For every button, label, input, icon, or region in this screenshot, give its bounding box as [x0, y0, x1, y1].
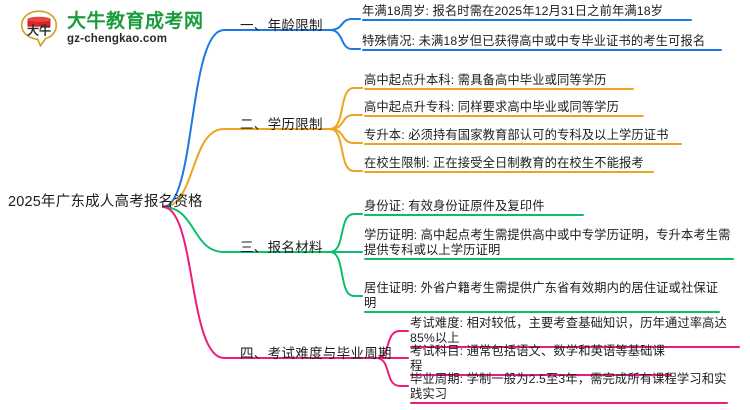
branch-1-leaf-connector-1 — [330, 19, 360, 30]
branch-4-leaf-connector-3 — [376, 358, 408, 386]
leaf-text: 专升本: 必须持有国家教育部认可的专科及以上学历证书 — [364, 128, 682, 143]
logo-title: 大牛教育成考网 — [67, 12, 204, 31]
leaf-node[interactable]: 高中起点升专科: 同样要求高中毕业或同等学历 — [364, 100, 644, 117]
daniu-logo-icon: 大牛 — [18, 8, 60, 50]
branch-2-leaf-connector-3 — [330, 129, 362, 143]
branch-label-1[interactable]: 一、年龄限制 — [240, 14, 323, 34]
leaf-node[interactable]: 身份证: 有效身份证原件及复印件 — [364, 199, 584, 216]
svg-text:大牛: 大牛 — [27, 22, 51, 37]
branch-1-leaf-connector-2 — [330, 30, 360, 49]
leaf-text: 考试科目: 通常包括语文、数学和英语等基础课程 — [410, 344, 672, 374]
site-logo: 大牛 大牛教育成考网 gz-chengkao.com — [18, 8, 204, 50]
branch-label-4[interactable]: 四、考试难度与毕业周期 — [240, 342, 392, 362]
leaf-node[interactable]: 年满18周岁: 报名时需在2025年12月31日之前年满18岁 — [362, 4, 692, 21]
branch-3-leaf-connector-1 — [330, 214, 362, 252]
leaf-text: 毕业周期: 学制一般为2.5至3年，需完成所有课程学习和实践实习 — [410, 372, 728, 402]
leaf-text: 身份证: 有效身份证原件及复印件 — [364, 199, 584, 214]
branch-label-3[interactable]: 三、报名材料 — [240, 236, 323, 256]
leaf-text: 居住证明: 外省户籍考生需提供广东省有效期内的居住证或社保证明 — [364, 281, 720, 311]
branch-label-2[interactable]: 二、学历限制 — [240, 113, 323, 133]
branch-3-leaf-connector-3 — [330, 252, 362, 296]
branch-2-leaf-connector-1 — [330, 88, 362, 129]
leaf-text: 学历证明: 高中起点考生需提供高中或中专学历证明，专升本考生需提供专科或以上学历… — [364, 228, 734, 258]
leaf-text: 高中起点升本科: 需具备高中毕业或同等学历 — [364, 73, 634, 88]
leaf-node[interactable]: 专升本: 必须持有国家教育部认可的专科及以上学历证书 — [364, 128, 682, 145]
leaf-text: 高中起点升专科: 同样要求高中毕业或同等学历 — [364, 100, 644, 115]
root-topic[interactable]: 2025年广东成人高考报名资格 — [8, 190, 203, 211]
branch-4-trunk — [163, 207, 376, 358]
leaf-node[interactable]: 特殊情况: 未满18岁但已获得高中或中专毕业证书的考生可报名 — [362, 34, 722, 51]
branch-2-leaf-connector-4 — [330, 129, 362, 171]
branch-2-leaf-connector-2 — [330, 115, 362, 129]
mindmap-canvas: 大牛 大牛教育成考网 gz-chengkao.com 2025年广东成人高考报名… — [0, 0, 750, 410]
leaf-node[interactable]: 学历证明: 高中起点考生需提供高中或中专学历证明，专升本考生需提供专科或以上学历… — [364, 228, 734, 260]
leaf-text: 考试难度: 相对较低，主要考查基础知识，历年通过率高达85%以上 — [410, 316, 740, 346]
leaf-node[interactable]: 高中起点升本科: 需具备高中毕业或同等学历 — [364, 73, 634, 90]
leaf-node[interactable]: 毕业周期: 学制一般为2.5至3年，需完成所有课程学习和实践实习 — [410, 372, 728, 404]
logo-wordmark: 大牛教育成考网 gz-chengkao.com — [67, 12, 204, 46]
leaf-node[interactable]: 在校生限制: 正在接受全日制教育的在校生不能报考 — [364, 156, 654, 173]
logo-subtitle: gz-chengkao.com — [67, 34, 204, 46]
leaf-text: 年满18周岁: 报名时需在2025年12月31日之前年满18岁 — [362, 4, 692, 19]
leaf-text: 特殊情况: 未满18岁但已获得高中或中专毕业证书的考生可报名 — [362, 34, 722, 49]
leaf-text: 在校生限制: 正在接受全日制教育的在校生不能报考 — [364, 156, 654, 171]
leaf-node[interactable]: 居住证明: 外省户籍考生需提供广东省有效期内的居住证或社保证明 — [364, 281, 720, 313]
